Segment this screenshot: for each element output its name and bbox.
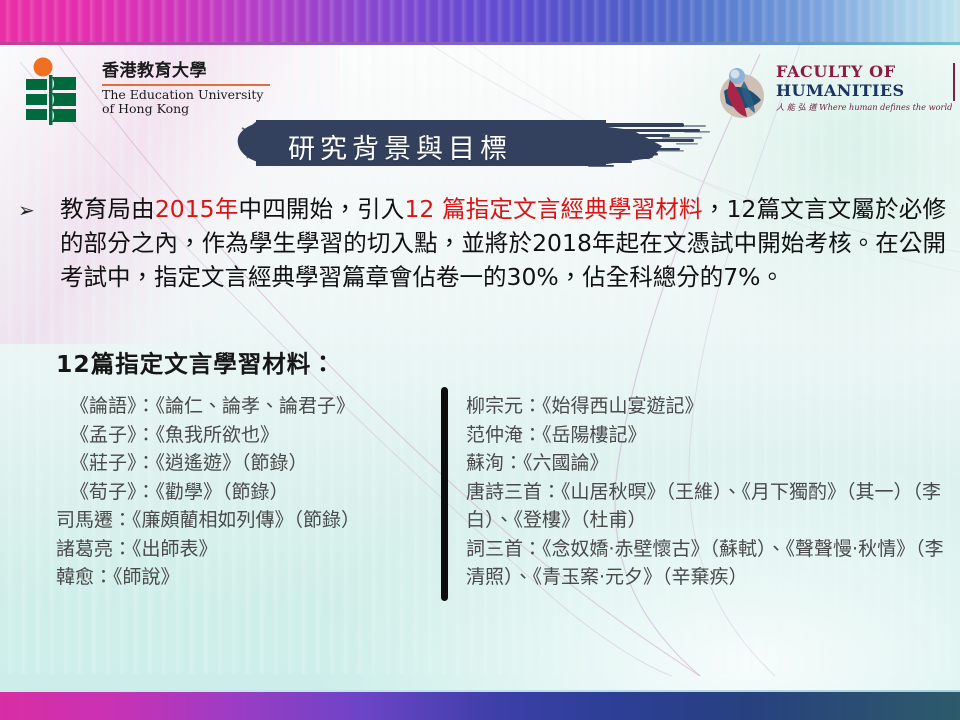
faculty-tagline: 人 能 弘 道 Where human defines the world bbox=[776, 102, 952, 113]
paragraph-segment-1: 2015年 bbox=[155, 195, 239, 223]
list-item: 詞三首：《念奴嬌‧赤壁懷古》（蘇軾）、《聲聲慢‧秋情》（李清照）、《青玉案‧元夕… bbox=[466, 535, 952, 592]
list-item: 司馬遷：《廉頗藺相如列傳》（節錄） bbox=[56, 506, 436, 535]
top-bar-streak-overlay bbox=[0, 0, 960, 42]
paragraph-segment-0: 教育局由 bbox=[60, 195, 155, 223]
eduhk-wordmark: 香港教育大學 The Education University of Hong … bbox=[102, 61, 277, 117]
eduhk-name-cn: 香港教育大學 bbox=[102, 61, 277, 81]
arrow-bullet-icon: ➢ bbox=[18, 193, 35, 227]
list-item: 《莊子》：《逍遙遊》（節錄） bbox=[56, 449, 436, 478]
eduhk-rule bbox=[102, 84, 270, 86]
paragraph-segment-3: 12 篇指定文言經典學習材料 bbox=[404, 195, 702, 223]
top-gradient-bar bbox=[0, 0, 960, 42]
page-title: 研究背景與目標 bbox=[288, 127, 512, 166]
materials-subhead: 12篇指定文言學習材料： bbox=[56, 345, 336, 379]
top-bar-edge-line bbox=[0, 42, 960, 45]
list-item: 唐詩三首：《山居秋暝》（王維）、《月下獨酌》（其一）（李白）、《登樓》（杜甫） bbox=[466, 478, 952, 535]
list-item: 諸葛亮：《出師表》 bbox=[56, 535, 436, 564]
faculty-line2: HUMANITIES bbox=[776, 81, 952, 100]
list-item: 《荀子》：《勸學》（節錄） bbox=[56, 478, 436, 507]
faculty-humanities-emblem-icon bbox=[714, 65, 770, 121]
faculty-humanities-logo: FACULTY OF HUMANITIES 人 能 弘 道 Where huma… bbox=[714, 62, 954, 132]
list-item: 《孟子》：《魚我所欲也》 bbox=[56, 421, 436, 450]
eduhk-logo-icon bbox=[24, 57, 92, 129]
list-item: 柳宗元：《始得西山宴遊記》 bbox=[466, 392, 952, 421]
body-paragraph: ➢ 教育局由2015年中四開始，引入12 篇指定文言經典學習材料，12篇文言文屬… bbox=[18, 192, 946, 294]
materials-right-column: 柳宗元：《始得西山宴遊記》 范仲淹：《岳陽樓記》 蘇洵：《六國論》 唐詩三首：《… bbox=[466, 392, 952, 592]
eduhk-name-en-line1: The Education University bbox=[102, 88, 277, 103]
list-item: 《論語》：《論仁、論孝、論君子》 bbox=[56, 392, 436, 421]
faculty-logo-divider bbox=[953, 63, 955, 101]
faculty-wordmark: FACULTY OF HUMANITIES 人 能 弘 道 Where huma… bbox=[776, 62, 952, 113]
materials-left-column: 《論語》：《論仁、論孝、論君子》 《孟子》：《魚我所欲也》 《莊子》：《逍遙遊》… bbox=[56, 392, 436, 592]
list-item: 范仲淹：《岳陽樓記》 bbox=[466, 421, 952, 450]
faculty-line1: FACULTY OF bbox=[776, 62, 952, 81]
list-item: 韓愈：《師說》 bbox=[56, 563, 436, 592]
list-item: 蘇洵：《六國論》 bbox=[466, 449, 952, 478]
paragraph-text: 教育局由2015年中四開始，引入12 篇指定文言經典學習材料，12篇文言文屬於必… bbox=[60, 192, 946, 294]
paragraph-segment-2: 中四開始，引入 bbox=[239, 195, 405, 223]
bottom-gradient-bar bbox=[0, 692, 960, 720]
column-divider bbox=[441, 387, 448, 601]
slide-canvas: 香港教育大學 The Education University of Hong … bbox=[0, 0, 960, 720]
